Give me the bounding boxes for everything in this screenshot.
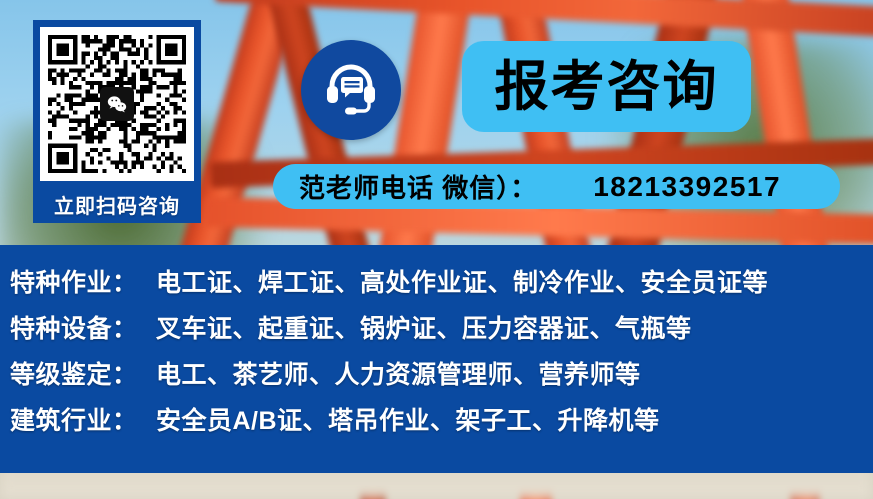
- title-pill: 报考咨询: [462, 41, 751, 132]
- category-label: 特种设备：: [10, 309, 156, 345]
- certificate-categories-panel: 特种作业：电工证、焊工证、高处作业证、制冷作业、安全员证等特种设备：叉车证、起重…: [0, 245, 873, 473]
- category-row: 特种设备：叉车证、起重证、锅炉证、压力容器证、气瓶等: [10, 309, 873, 355]
- category-label: 等级鉴定：: [10, 355, 156, 391]
- qr-code-image[interactable]: [40, 27, 194, 181]
- category-rows: 特种作业：电工证、焊工证、高处作业证、制冷作业、安全员证等特种设备：叉车证、起重…: [0, 245, 873, 447]
- category-row: 等级鉴定：电工、茶艺师、人力资源管理师、营养师等: [10, 355, 873, 401]
- contact-label: 范老师电话 微信）：: [299, 168, 537, 205]
- title-text: 报考咨询: [495, 60, 719, 114]
- promotional-banner: 立即扫码咨询 报考咨询 范老师电话 微信）： 18213392517 特种作业: [0, 0, 873, 499]
- wechat-icon: [100, 87, 134, 121]
- customer-support-badge[interactable]: [301, 40, 401, 140]
- contact-pill[interactable]: 范老师电话 微信）： 18213392517: [273, 164, 840, 209]
- category-value: 电工、茶艺师、人力资源管理师、营养师等: [156, 355, 641, 391]
- qr-code-card[interactable]: 立即扫码咨询: [33, 20, 201, 223]
- category-value: 叉车证、起重证、锅炉证、压力容器证、气瓶等: [156, 309, 692, 345]
- category-row: 特种作业：电工证、焊工证、高处作业证、制冷作业、安全员证等: [10, 263, 873, 309]
- category-label: 建筑行业：: [10, 401, 156, 437]
- headset-support-icon: [319, 56, 383, 125]
- category-row: 建筑行业：安全员A/B证、塔吊作业、架子工、升降机等: [10, 401, 873, 447]
- category-value: 电工证、焊工证、高处作业证、制冷作业、安全员证等: [156, 263, 768, 299]
- category-value: 安全员A/B证、塔吊作业、架子工、升降机等: [156, 401, 660, 437]
- phone-number[interactable]: 18213392517: [593, 171, 781, 203]
- category-label: 特种作业：: [10, 263, 156, 299]
- qr-caption: 立即扫码咨询: [54, 190, 180, 219]
